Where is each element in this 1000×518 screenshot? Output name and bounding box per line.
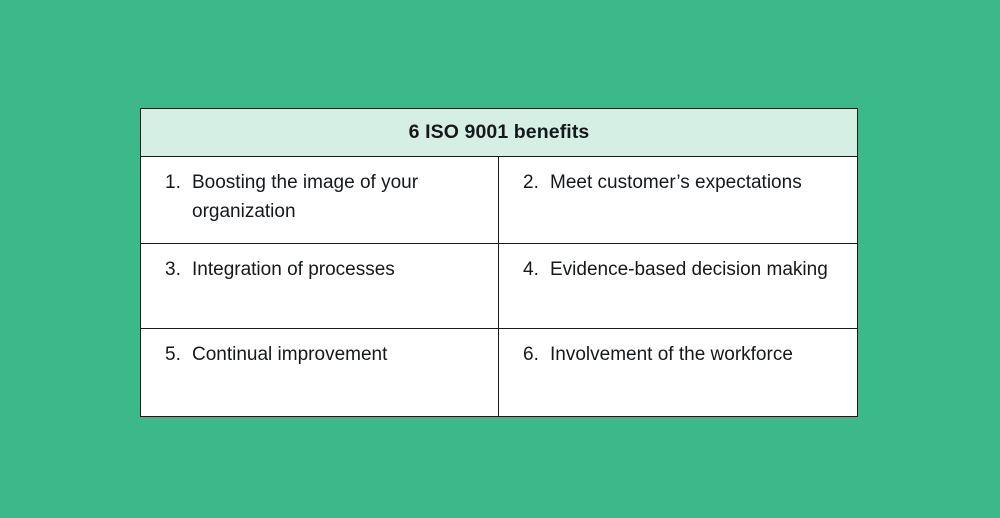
table-row: 1. Boosting the image of your organizati…	[141, 157, 857, 244]
benefit-number: 1.	[165, 169, 192, 198]
benefit-cell-6: 6. Involvement of the workforce	[499, 329, 857, 416]
table-body: 1. Boosting the image of your organizati…	[141, 157, 857, 416]
benefit-text: Involvement of the workforce	[550, 341, 843, 370]
benefit-number: 3.	[165, 256, 192, 285]
table-row: 3. Integration of processes 4. Evidence-…	[141, 244, 857, 329]
benefit-number: 5.	[165, 341, 192, 370]
benefit-number: 2.	[523, 169, 550, 198]
benefit-cell-5: 5. Continual improvement	[141, 329, 499, 416]
table-title: 6 ISO 9001 benefits	[409, 121, 590, 144]
list-item: 5. Continual improvement	[165, 341, 484, 370]
benefit-cell-3: 3. Integration of processes	[141, 244, 499, 328]
benefit-cell-2: 2. Meet customer’s expectations	[499, 157, 857, 243]
benefit-text: Integration of processes	[192, 256, 484, 285]
list-item: 2. Meet customer’s expectations	[523, 169, 843, 198]
list-item: 3. Integration of processes	[165, 256, 484, 285]
list-item: 6. Involvement of the workforce	[523, 341, 843, 370]
benefit-text: Evidence-based decision making	[550, 256, 843, 285]
benefit-text: Meet customer’s expectations	[550, 169, 843, 198]
list-item: 4. Evidence-based decision making	[523, 256, 843, 285]
benefit-text: Boosting the image of your organization	[192, 169, 484, 227]
benefit-cell-4: 4. Evidence-based decision making	[499, 244, 857, 328]
benefit-number: 4.	[523, 256, 550, 285]
list-item: 1. Boosting the image of your organizati…	[165, 169, 484, 227]
table-row: 5. Continual improvement 6. Involvement …	[141, 329, 857, 416]
table-header-row: 6 ISO 9001 benefits	[141, 109, 857, 157]
benefit-cell-1: 1. Boosting the image of your organizati…	[141, 157, 499, 243]
slide-canvas: 6 ISO 9001 benefits 1. Boosting the imag…	[0, 0, 1000, 518]
benefit-text: Continual improvement	[192, 341, 484, 370]
benefits-table: 6 ISO 9001 benefits 1. Boosting the imag…	[140, 108, 858, 417]
benefit-number: 6.	[523, 341, 550, 370]
